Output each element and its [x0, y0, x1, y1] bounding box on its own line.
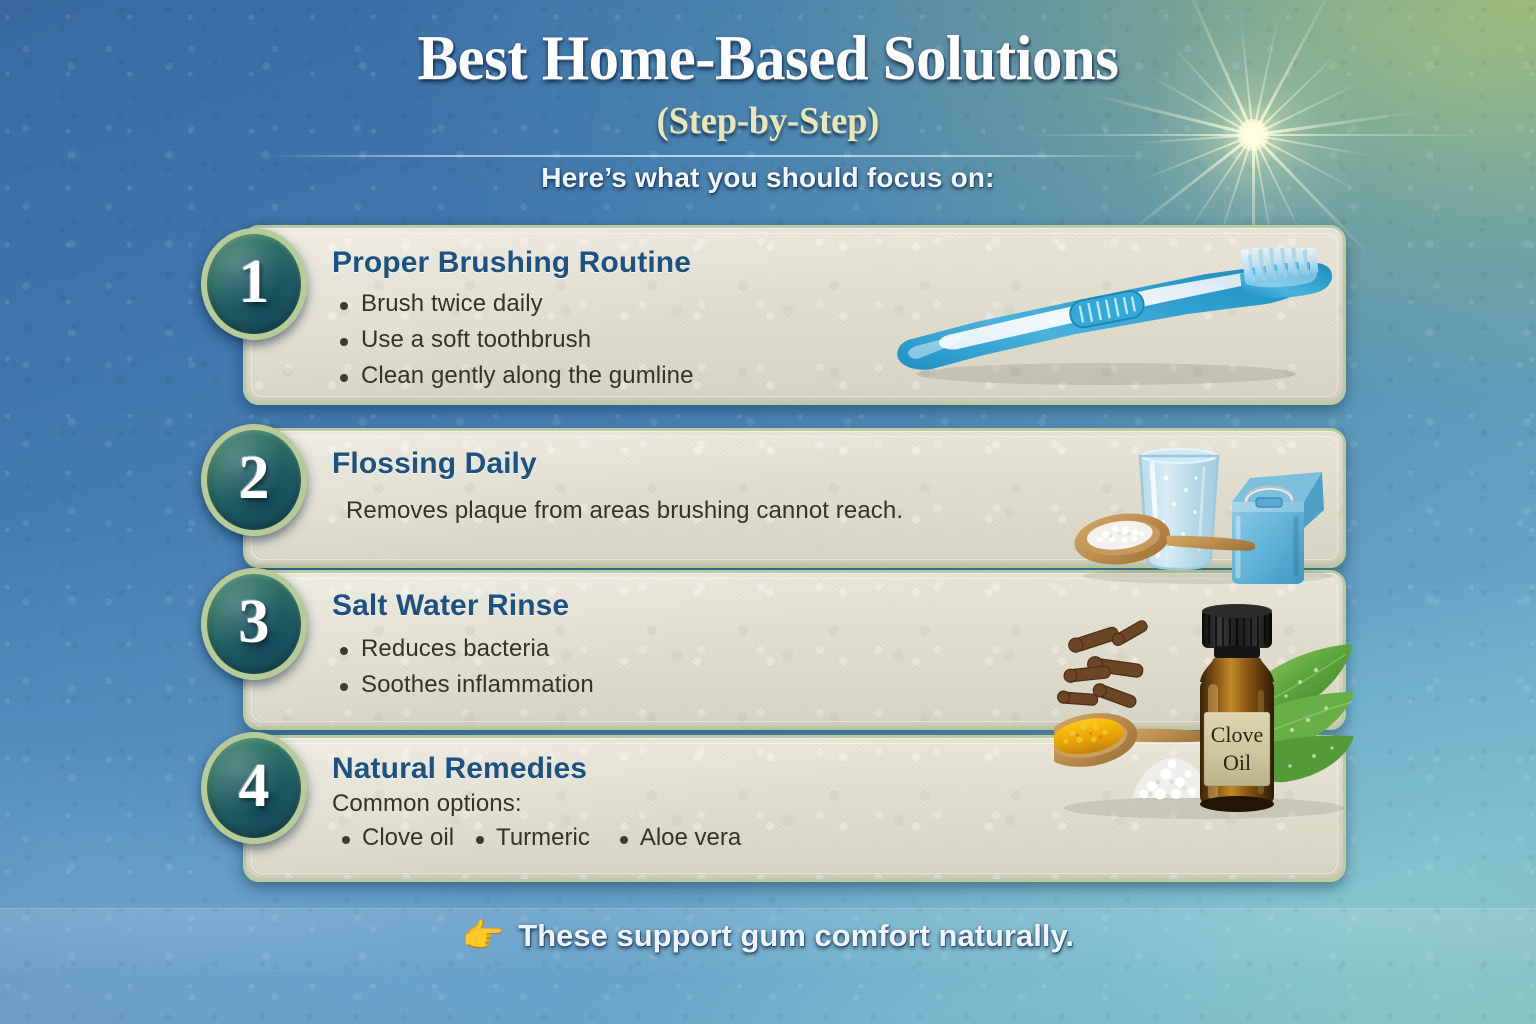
- step-title-1: Proper Brushing Routine: [332, 246, 1325, 280]
- step-card-2[interactable]: Flossing Daily Removes plaque from areas…: [243, 428, 1346, 568]
- step-number-2: 2: [239, 447, 270, 509]
- option-item: Turmeric: [472, 824, 590, 852]
- step-card-2-body: Flossing Daily Removes plaque from areas…: [332, 431, 1325, 565]
- step-card-4-body: Natural Remedies Common options: Clove o…: [332, 738, 1325, 879]
- step-badge-2: 2: [201, 424, 307, 536]
- step-description-2: Removes plaque from areas brushing canno…: [346, 497, 1325, 525]
- lead-in-text: Here’s what you should focus on:: [0, 162, 1536, 194]
- step-card-4[interactable]: Natural Remedies Common options: Clove o…: [243, 735, 1346, 882]
- step-card-3-body: Salt Water Rinse Reduces bacteria Soothe…: [332, 573, 1325, 727]
- option-item: Clove oil: [338, 824, 454, 852]
- step-bullets-3: Reduces bacteria Soothes inflammation: [332, 635, 1325, 699]
- option-item: Aloe vera: [616, 824, 741, 852]
- page-subtitle: (Step-by-Step): [38, 102, 1497, 140]
- step-title-3: Salt Water Rinse: [332, 589, 1325, 623]
- header: Best Home-Based Solutions (Step-by-Step)…: [0, 0, 1536, 194]
- page-title: Best Home-Based Solutions: [38, 0, 1497, 90]
- step-number-3: 3: [239, 591, 270, 653]
- step-description-4: Common options:: [332, 790, 1325, 818]
- list-item: Reduces bacteria: [332, 635, 1325, 663]
- step-card-3[interactable]: Salt Water Rinse Reduces bacteria Soothe…: [243, 570, 1346, 730]
- step-card-1-body: Proper Brushing Routine Brush twice dail…: [332, 228, 1325, 402]
- step-title-4: Natural Remedies: [332, 752, 1325, 786]
- step-badge-4: 4: [201, 732, 307, 844]
- list-item: Use a soft toothbrush: [332, 326, 1325, 354]
- pointing-right-hand-icon: 👉: [462, 919, 504, 953]
- step-badge-1: 1: [201, 228, 307, 340]
- step-options-4: Clove oil Turmeric Aloe vera: [338, 824, 1325, 852]
- step-bullets-1: Brush twice daily Use a soft toothbrush …: [332, 290, 1325, 390]
- list-item: Brush twice daily: [332, 290, 1325, 318]
- step-card-1[interactable]: Proper Brushing Routine Brush twice dail…: [243, 225, 1346, 405]
- list-item: Soothes inflammation: [332, 671, 1325, 699]
- step-badge-3: 3: [201, 568, 307, 680]
- list-item: Clean gently along the gumline: [332, 362, 1325, 390]
- footer-text: These support gum comfort naturally.: [518, 918, 1074, 954]
- footer: 👉 These support gum comfort naturally.: [0, 918, 1536, 954]
- step-number-4: 4: [239, 755, 270, 817]
- step-number-1: 1: [239, 251, 270, 313]
- step-title-2: Flossing Daily: [332, 447, 1325, 481]
